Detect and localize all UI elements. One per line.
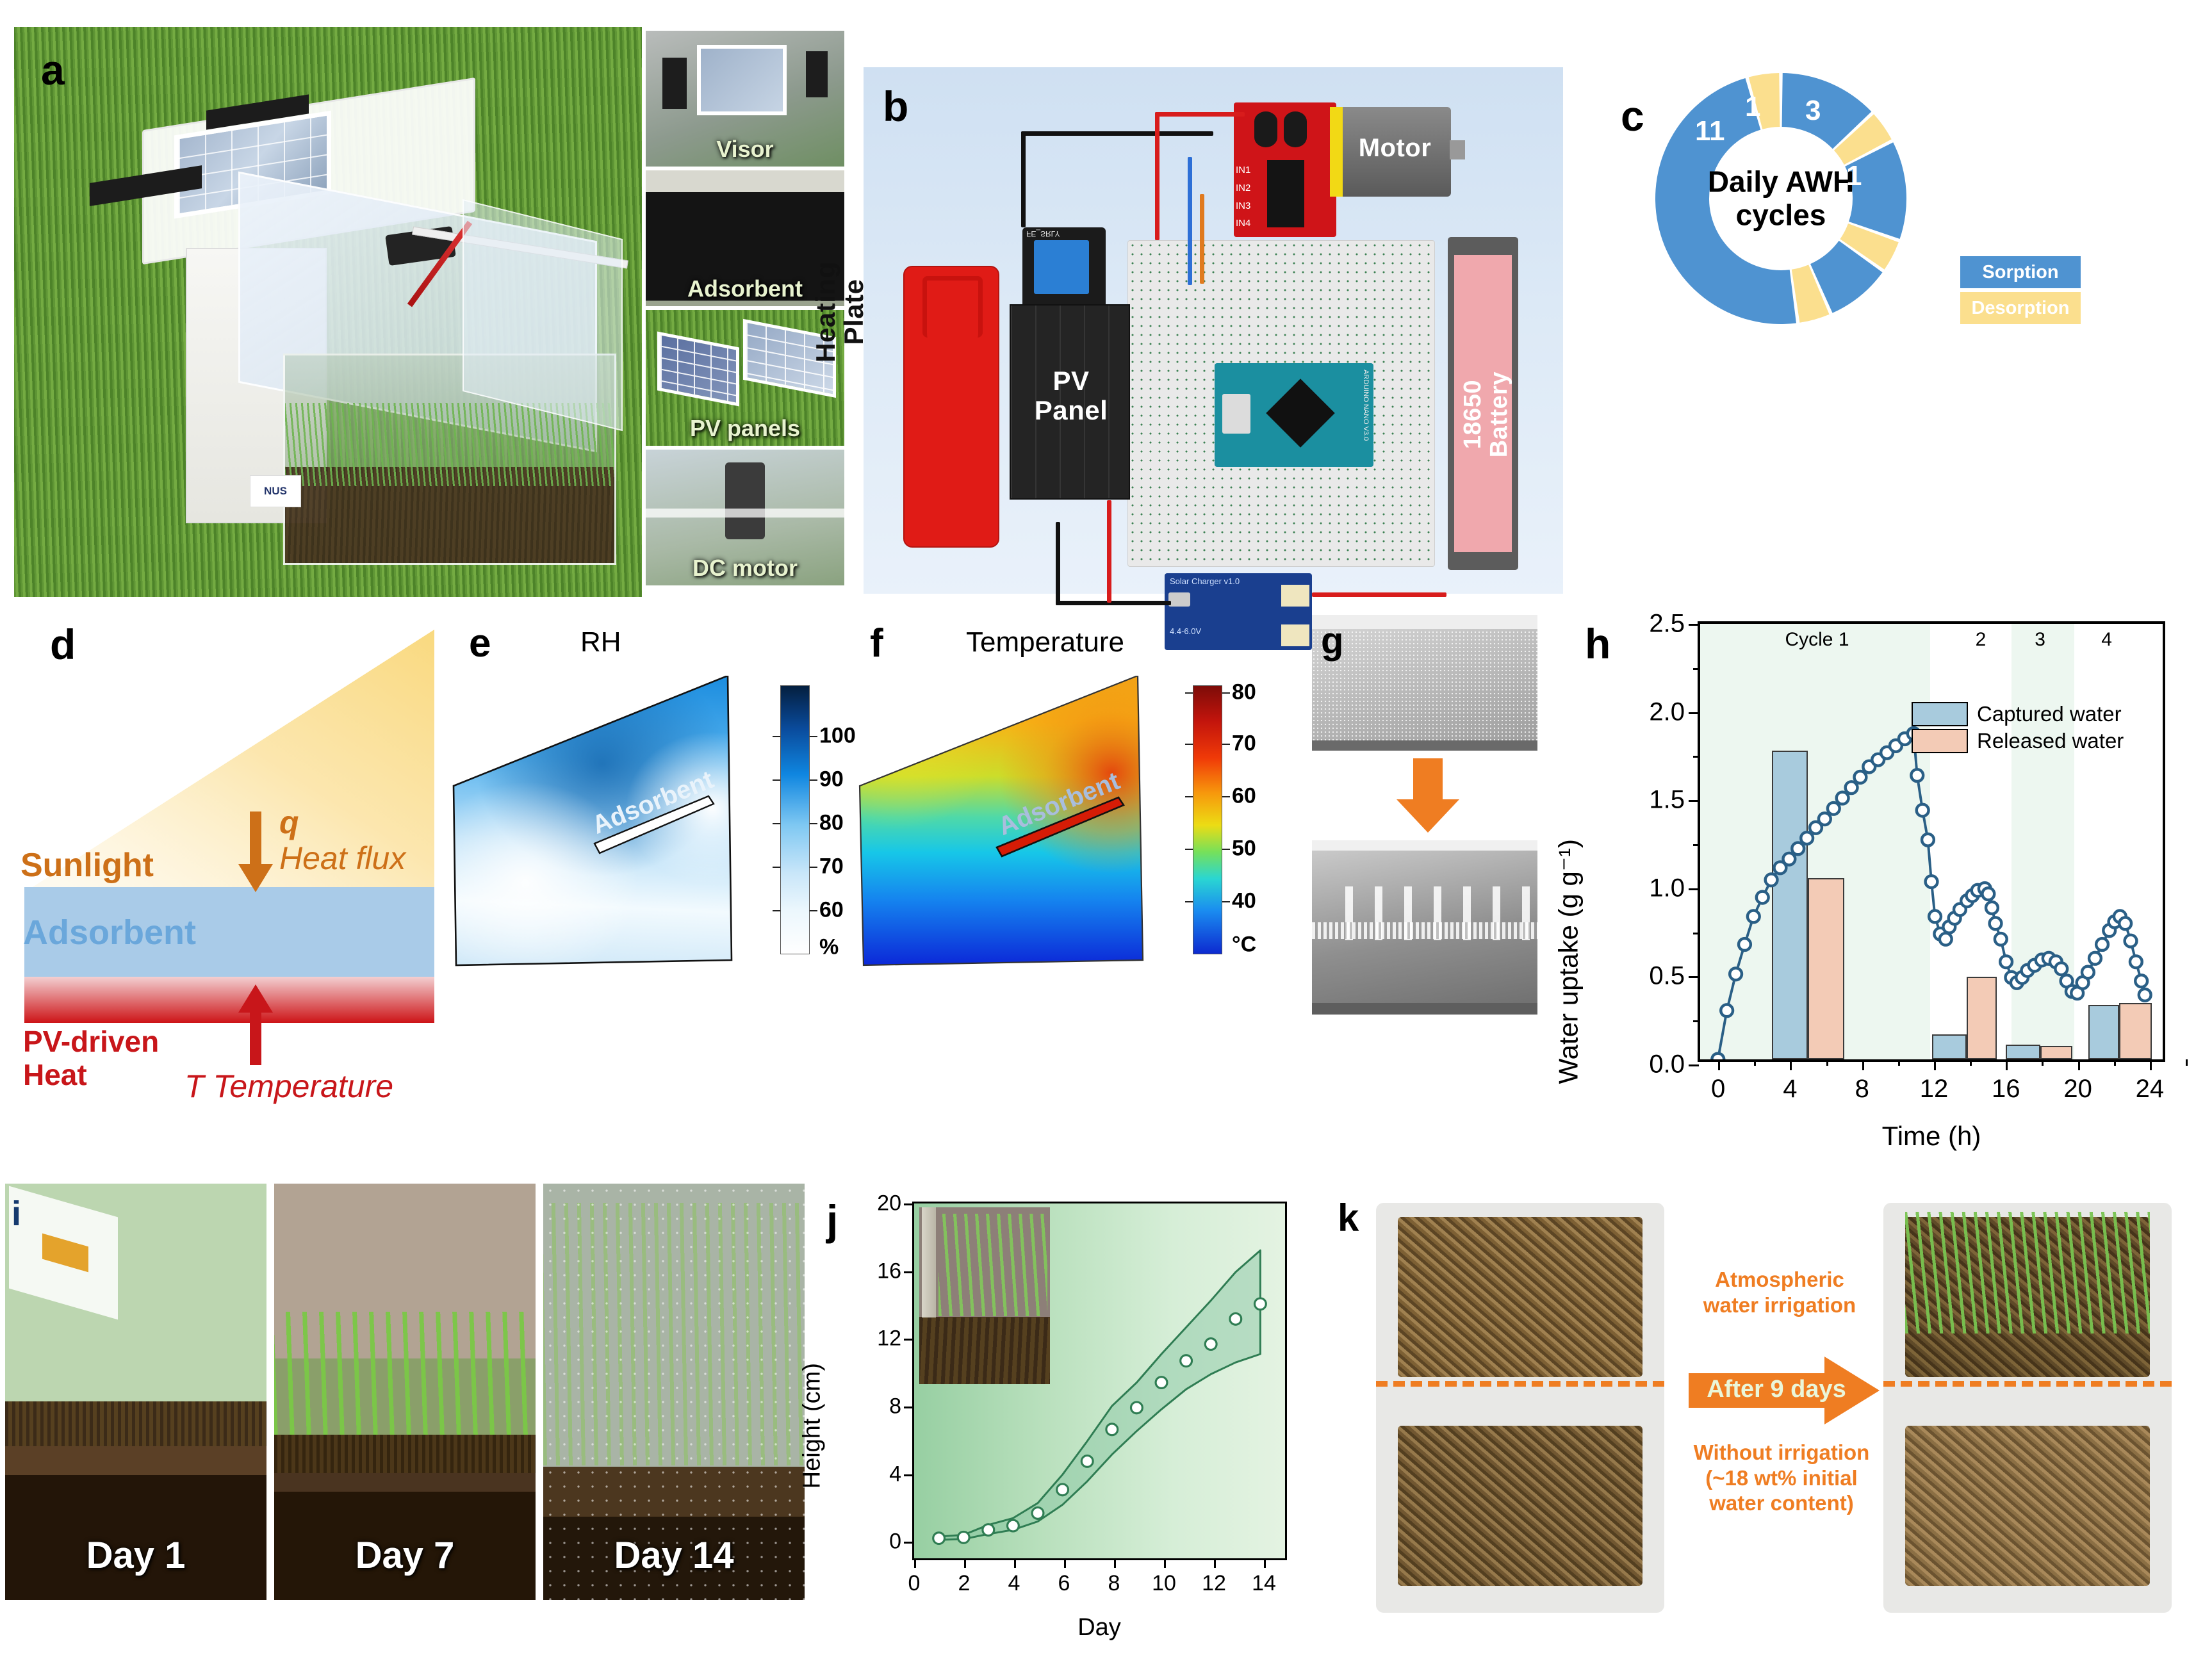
battery-label: 18650Battery: [1460, 280, 1512, 549]
caption-day-1: Day 1: [5, 1534, 266, 1577]
j-y-axis-title: Height (cm): [799, 1363, 826, 1488]
temperature-word: Temperature: [213, 1068, 393, 1104]
temp-cbar-tick-80: 80: [1232, 680, 1256, 705]
panel-e-title: RH: [580, 626, 621, 658]
sunlight-label: Sunlight: [20, 846, 154, 885]
j-ytick-16: [904, 1271, 913, 1273]
arrow-label-after-9-days: After 9 days: [1696, 1376, 1856, 1403]
h-xlabel-0: 0: [1711, 1075, 1725, 1104]
nus-logo: NUS: [250, 475, 301, 507]
donut-value-11: 11: [1695, 115, 1725, 147]
caption-day-14: Day 14: [543, 1534, 805, 1577]
h-x-axis-title: Time (h): [1882, 1121, 1981, 1152]
panel-i-growth-photos: Day 1 i Day 7 Day 14: [5, 1184, 806, 1632]
detail-caption-visor: Visor: [646, 136, 844, 163]
legend-row-desorption: Desorption: [1960, 292, 2081, 324]
h-xtick-16: [2006, 1059, 2008, 1070]
driver-pin-labels: IN1IN2IN3IN4: [1236, 161, 1250, 232]
donut-value-3: 3: [1805, 95, 1821, 127]
panel-j-height-chart: j Height (cm) Day 048121620 02468101214: [819, 1184, 1331, 1670]
h-xlabel-8: 8: [1855, 1075, 1869, 1104]
h-xtick-minor: [1754, 1059, 1756, 1066]
panel-b-circuit-schematic: b HeatingPlate FE_SRLY PVPanel IN1IN2IN3…: [864, 67, 1563, 594]
j-xlabel-10: 10: [1152, 1571, 1176, 1596]
j-xlabel-4: 4: [1008, 1571, 1020, 1596]
panel-label-i: i: [12, 1196, 21, 1231]
j-growth-curve: [914, 1203, 1285, 1558]
panel-d-schematic: d Sunlight q Heat flux Adsorbent PV-driv…: [12, 612, 447, 1175]
h-legend-swatch-captured: [1912, 702, 1968, 726]
legend-label-desorption: Desorption: [1960, 292, 2081, 324]
photo-day-7: Day 7: [274, 1184, 536, 1600]
divider-dashed-right: [1883, 1381, 2172, 1387]
panel-label-b: b: [883, 85, 908, 127]
h-ytick-minor: [1693, 668, 1699, 670]
pv-panel-label: PVPanel: [1011, 366, 1131, 425]
wire-orange-1: [1200, 194, 1204, 284]
j-ytick-12: [904, 1339, 913, 1341]
j-ytick-8: [904, 1407, 913, 1408]
h-ytick-minor: [1693, 844, 1699, 846]
j-xtick-10: [1164, 1558, 1166, 1568]
j-x-axis-title: Day: [1077, 1614, 1121, 1642]
h-legend-label-released: Released water: [1977, 729, 2124, 753]
rh-colorbar: 100 90 80 70 60 %: [780, 685, 810, 954]
t-symbol: T: [184, 1068, 204, 1104]
tray-bottom-before: [1398, 1426, 1643, 1586]
j-ylabel-20: 20: [877, 1191, 901, 1216]
photo-before-trays: [1376, 1203, 1664, 1613]
h-plot-area: Cycle 1234 0.00.51.01.52.02.5 0481216202…: [1698, 621, 2165, 1062]
arduino-text: ARDUINO NANO V3.0: [1362, 370, 1370, 441]
h-xtick-0: [1718, 1059, 1720, 1070]
adsorbent-label: Adsorbent: [23, 913, 196, 952]
j-xlabel-2: 2: [958, 1571, 971, 1596]
wire-blue-1: [1188, 157, 1192, 285]
h-ylabel-2.5: 2.5: [1649, 610, 1685, 639]
divider-dashed-left: [1376, 1381, 1664, 1387]
panel-label-d: d: [50, 623, 76, 665]
rh-field-svg: Adsorbent: [452, 676, 785, 970]
photo-condensation-after: [1312, 840, 1537, 1015]
h-y-axis-title: Water uptake (g g⁻¹): [1553, 839, 1584, 1084]
photo-day-14: Day 14: [543, 1184, 805, 1600]
panel-label-h: h: [1585, 623, 1610, 665]
temp-cbar-tick-40: 40: [1232, 889, 1256, 914]
temperature-label: T Temperature: [184, 1068, 393, 1105]
legend-label-sorption: Sorption: [1960, 256, 2081, 288]
j-ylabel-12: 12: [877, 1326, 901, 1351]
donut-value-1b: 1: [1846, 160, 1862, 192]
j-xtick-2: [964, 1558, 966, 1568]
j-xtick-6: [1064, 1558, 1066, 1568]
panel-label-a: a: [41, 49, 65, 91]
panel-f-title: Temperature: [966, 626, 1124, 658]
motor-driver-board: IN1IN2IN3IN4: [1234, 102, 1336, 237]
note-noirr-line3: water content): [1709, 1491, 1854, 1515]
note-noirr-line1: Without irrigation: [1694, 1440, 1870, 1464]
detail-photo-dc-motor: DC motor: [646, 450, 844, 585]
j-ylabel-0: 0: [889, 1529, 901, 1554]
panel-e-rh-simulation: e RH: [452, 615, 849, 1153]
h-xlabel-4: 4: [1783, 1075, 1797, 1104]
j-ylabel-16: 16: [877, 1259, 901, 1284]
h-ytick-0.5: [1689, 976, 1699, 978]
j-xlabel-0: 0: [908, 1571, 921, 1596]
rh-cbar-unit: %: [819, 935, 839, 960]
note-atmos-line1: Atmospheric: [1715, 1268, 1844, 1291]
legend-row-sorption: Sorption: [1960, 256, 2081, 288]
h-ytick-2.0: [1689, 712, 1699, 714]
j-xtick-4: [1014, 1558, 1016, 1568]
relay-text: FE_SRLY: [1026, 229, 1060, 238]
h-ytick-minor: [1693, 1020, 1699, 1022]
panel-label-f: f: [870, 624, 883, 664]
h-xtick-12: [1934, 1059, 1936, 1070]
rh-cbar-tick-100: 100: [819, 724, 856, 749]
relay-module: FE_SRLY: [1022, 227, 1106, 314]
note-atmos-line2: water irrigation: [1703, 1293, 1856, 1317]
detail-photo-visor: Visor: [646, 31, 844, 167]
tray-bottom-after: [1905, 1426, 2150, 1586]
h-ytick-minor: [1693, 756, 1699, 758]
h-xtick-minor: [1826, 1059, 1828, 1066]
h-xlabel-16: 16: [1992, 1075, 2020, 1104]
h-ylabel-1.0: 1.0: [1649, 874, 1685, 902]
h-xlabel-20: 20: [2063, 1075, 2092, 1104]
panel-h-water-uptake-chart: h Water uptake (g g⁻¹) Time (h) Cycle 12…: [1576, 608, 2210, 1172]
h-ylabel-2.0: 2.0: [1649, 697, 1685, 726]
j-ytick-0: [904, 1542, 913, 1544]
h-xtick-minor: [2114, 1059, 2116, 1066]
acrylic-panel-right: [463, 199, 623, 431]
pv-heat-layer: [24, 977, 434, 1023]
h-ytick-1.0: [1689, 888, 1699, 890]
wire-black-4: [1056, 601, 1171, 605]
h-ytick-2.5: [1689, 624, 1699, 626]
q-symbol: q: [279, 804, 299, 841]
temp-cbar-tick-50: 50: [1232, 836, 1256, 861]
j-plot-area: 048121620 02468101214: [912, 1202, 1287, 1560]
detail-caption-dc-motor: DC motor: [646, 555, 844, 582]
h-xtick-8: [1862, 1059, 1864, 1070]
panel-label-k: k: [1338, 1199, 1359, 1237]
photo-after-trays: [1883, 1203, 2172, 1613]
down-arrow-icon: [1393, 757, 1463, 834]
wire-black-2: [1021, 131, 1026, 227]
h-xlabel-12: 12: [1920, 1075, 1949, 1104]
h-legend-row-released: Released water: [1912, 728, 2124, 754]
donut-value-1a: 1: [1745, 91, 1760, 123]
panel-f-temperature-simulation: f Temperature: [858, 615, 1275, 1153]
pv-heat-line2: Heat: [23, 1058, 87, 1091]
h-xtick-minor: [2186, 1059, 2188, 1066]
dc-motor: Motor: [1339, 107, 1451, 197]
rh-cbar-tick-90: 90: [819, 767, 844, 792]
rh-cbar-tick-60: 60: [819, 898, 844, 923]
panel-g-condensation-photos: g: [1281, 615, 1537, 1153]
pv-panel: PVPanel: [1010, 304, 1130, 500]
heat-flux-label: Heat flux: [279, 840, 406, 877]
arduino-nano: ARDUINO NANO V3.0: [1215, 363, 1373, 467]
panel-k-irrigation-comparison: k Atmospheric water irrigation After 9 d…: [1338, 1184, 2209, 1658]
panel-c-legend: Sorption Desorption: [1960, 256, 2081, 328]
wire-red-3: [1107, 500, 1111, 603]
heating-plate: HeatingPlate: [903, 266, 999, 548]
h-ylabel-0.5: 0.5: [1649, 962, 1685, 991]
donut-center-line2: cycles: [1685, 199, 1877, 232]
caption-day-7: Day 7: [274, 1534, 536, 1577]
h-ytick-1.5: [1689, 800, 1699, 802]
note-noirr-line2: (~18 wt% initial: [1705, 1466, 1857, 1490]
motor-label: Motor: [1339, 134, 1451, 163]
h-legend: Captured water Released water: [1912, 701, 2124, 754]
j-ylabel-4: 4: [889, 1462, 901, 1487]
j-xtick-12: [1214, 1558, 1216, 1568]
j-ytick-20: [904, 1203, 913, 1205]
h-ytick-minor: [1693, 933, 1699, 934]
j-xlabel-14: 14: [1252, 1571, 1276, 1596]
wire-red-2: [1155, 112, 1245, 117]
j-xtick-14: [1264, 1558, 1266, 1568]
h-xtick-minor: [1970, 1059, 1972, 1066]
tray-top-after: [1905, 1217, 2150, 1377]
wire-red-1: [1155, 112, 1159, 240]
pv-heat-label: PV-driven Heat: [23, 1025, 159, 1091]
h-xtick-4: [1790, 1059, 1792, 1070]
temperature-colorbar: 80 70 60 50 40 °C: [1193, 685, 1222, 954]
panel-label-g: g: [1321, 623, 1343, 660]
h-uptake-line: [1700, 624, 2163, 1059]
note-without-irrigation: Without irrigation (~18 wt% initial wate…: [1671, 1440, 1892, 1516]
temp-cbar-unit: °C: [1232, 933, 1256, 958]
wire-black-3: [1056, 522, 1060, 605]
temperature-up-arrow-icon: [233, 983, 277, 1066]
panel-c-donut-chart: c Daily AWH cycles 3 1 11 1 Sorption Des…: [1621, 70, 2210, 583]
temperature-field-svg: Adsorbent: [858, 676, 1192, 970]
photo-condensation-before: g: [1312, 615, 1537, 751]
h-xtick-24: [2150, 1059, 2152, 1070]
h-ylabel-0.0: 0.0: [1649, 1050, 1685, 1079]
note-atmospheric-irrigation: Atmospheric water irrigation: [1684, 1267, 1876, 1317]
heat-flux-down-arrow-icon: [233, 811, 277, 895]
j-xtick-0: [914, 1558, 916, 1568]
wire-black-1: [1021, 131, 1213, 136]
battery-holder: 18650Battery: [1448, 237, 1518, 570]
j-xlabel-12: 12: [1202, 1571, 1226, 1596]
tray-top-before: [1398, 1217, 1643, 1377]
h-legend-swatch-released: [1912, 729, 1968, 753]
j-xlabel-6: 6: [1058, 1571, 1070, 1596]
solar-charger-text: Solar Charger v1.0: [1170, 576, 1240, 586]
heating-plate-label: HeatingPlate: [812, 171, 908, 453]
panel-label-c: c: [1621, 95, 1644, 137]
h-legend-label-captured: Captured water: [1977, 702, 2122, 726]
h-xtick-20: [2078, 1059, 2080, 1070]
photo-day-1: Day 1 i: [5, 1184, 266, 1600]
panel-a-device-photo: NUS a: [14, 27, 642, 597]
h-xtick-minor: [1898, 1059, 1900, 1066]
h-ylabel-1.5: 1.5: [1649, 786, 1685, 815]
wire-red-4: [1312, 592, 1446, 597]
j-ytick-4: [904, 1474, 913, 1476]
h-legend-row-captured: Captured water: [1912, 701, 2124, 728]
j-ylabel-8: 8: [889, 1394, 901, 1419]
pv-heat-line1: PV-driven: [23, 1025, 159, 1058]
rh-cbar-tick-80: 80: [819, 811, 844, 836]
panel-label-j: j: [826, 1199, 838, 1241]
temp-cbar-tick-60: 60: [1232, 784, 1256, 809]
j-xtick-8: [1114, 1558, 1116, 1568]
temp-cbar-tick-70: 70: [1232, 731, 1256, 756]
h-ytick-0.0: [1689, 1064, 1699, 1066]
panel-label-e: e: [469, 624, 491, 664]
h-xtick-minor: [2042, 1059, 2044, 1066]
rh-cbar-tick-70: 70: [819, 854, 844, 879]
h-xlabel-24: 24: [2136, 1075, 2165, 1104]
j-xlabel-8: 8: [1108, 1571, 1120, 1596]
